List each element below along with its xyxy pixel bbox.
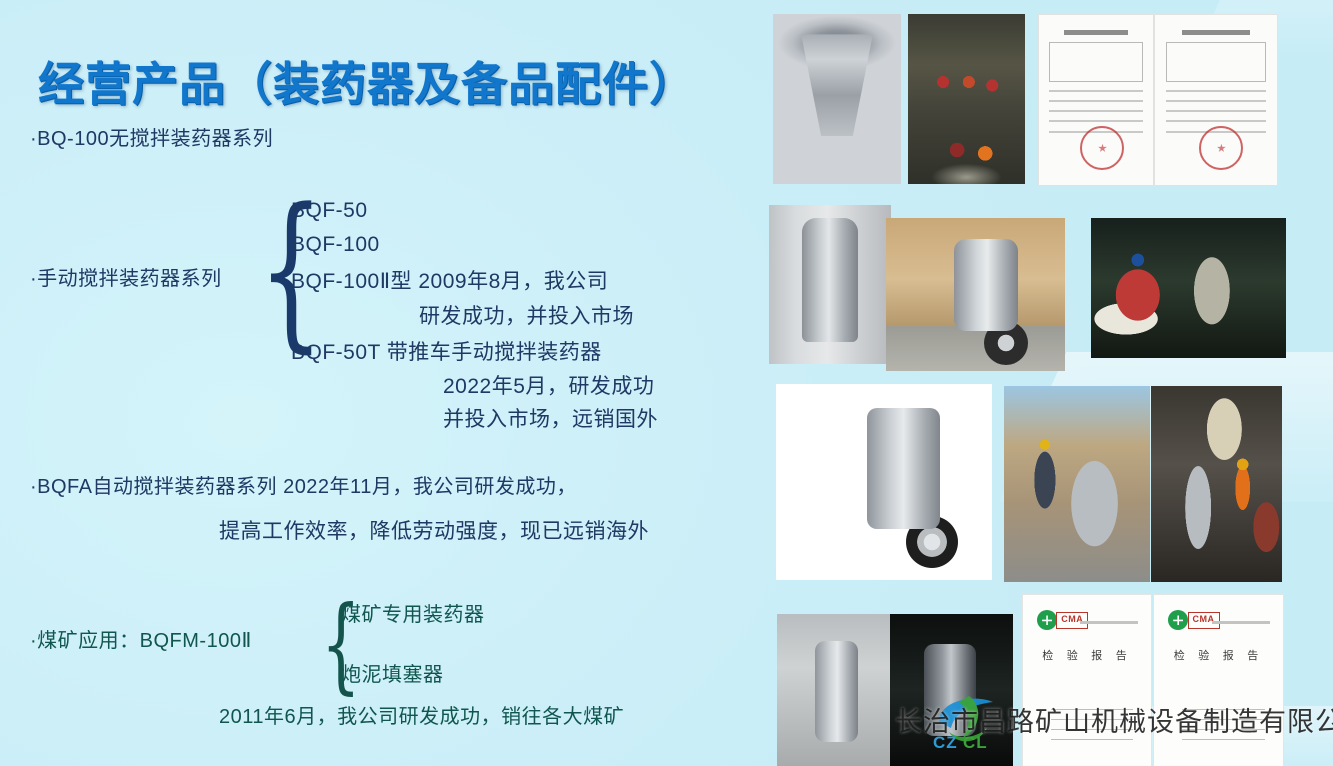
report-title: 检 验 报 告 <box>1154 647 1283 663</box>
photo-mine-workers-red: 矿井作业人员现场 <box>908 14 1025 184</box>
manual-line-bqf50t-3: 并投入市场，远销国外 <box>443 403 658 433</box>
coal-line-history: 2011年6月，我公司研发成功，销往各大煤矿 <box>219 700 624 729</box>
photo-hopper-charger: 无搅拌装药器实物 <box>773 14 901 184</box>
photo-gallery: 无搅拌装药器实物 矿井作业人员现场 产品检验证书（左） 产品检验证书（右） 手动… <box>760 0 1333 766</box>
bullet-manual-series: ·手动搅拌装药器系列 <box>30 262 222 291</box>
safety-mark-icon <box>1168 610 1188 630</box>
photo-yard-tank: 厂区装药器 <box>777 614 890 766</box>
photo-tunnel-crew: 隧道掌子面装药作业 <box>1151 386 1282 582</box>
photo-cart-charger-crate: 带推车手动搅拌装药器 <box>886 218 1065 371</box>
photo-tank-indoor: 手动搅拌装药器 <box>769 205 891 364</box>
photo-inspection-report-1: CMA 检 验 报 告 检验报告（一） <box>1022 594 1152 766</box>
slide-title: 经营产品（装药器及备品配件） <box>38 48 696 114</box>
coal-line-stemming: 炮泥填塞器 <box>341 658 444 687</box>
photo-underground-operator: 井下操作装药器 <box>1091 218 1286 358</box>
photo-inspection-report-2: CMA 检 验 报 告 检验报告（二） <box>1153 594 1284 766</box>
text-column: 经营产品（装药器及备品配件） ·BQ-100无搅拌装药器系列 ·手动搅拌装药器系… <box>0 0 760 766</box>
bullet-coal-application: ·煤矿应用：BQFM-100Ⅱ <box>30 624 252 653</box>
manual-line-bqf100ii-2: 研发成功，并投入市场 <box>419 300 634 330</box>
bqfa-line-2: 提高工作效率，降低劳动强度，现已远销海外 <box>219 515 649 545</box>
coal-line-dedicated: 煤矿专用装药器 <box>341 598 485 627</box>
photo-certificate-right: 产品检验证书（右） <box>1154 14 1278 186</box>
manual-line-bqf50: BQF-50 <box>291 199 368 223</box>
photo-night-tank: 井下夜间装药器 <box>890 614 1013 766</box>
bullet-bq100: ·BQ-100无搅拌装药器系列 <box>30 122 273 151</box>
slide-canvas: 经营产品（装药器及备品配件） ·BQ-100无搅拌装药器系列 ·手动搅拌装药器系… <box>0 0 1333 766</box>
manual-line-bqf100ii: BQF-100Ⅱ型 2009年8月，我公司 <box>291 265 608 295</box>
photo-white-bg-cart: BQF-50T 带推车装药器 <box>776 384 992 580</box>
safety-mark-icon <box>1037 610 1057 630</box>
photo-outdoor-operator: 露天矿现场推车作业 <box>1004 386 1150 582</box>
manual-line-bqf50t: BQF-50T 带推车手动搅拌装药器 <box>291 336 602 366</box>
report-title: 检 验 报 告 <box>1023 647 1151 663</box>
photo-certificate-left: 产品检验证书（左） <box>1038 14 1154 186</box>
manual-line-bqf50t-2: 2022年5月，研发成功 <box>443 370 654 400</box>
bullet-bqfa-series: ·BQFA自动搅拌装药器系列 2022年11月，我公司研发成功， <box>30 470 577 499</box>
manual-line-bqf100: BQF-100 <box>291 233 380 257</box>
